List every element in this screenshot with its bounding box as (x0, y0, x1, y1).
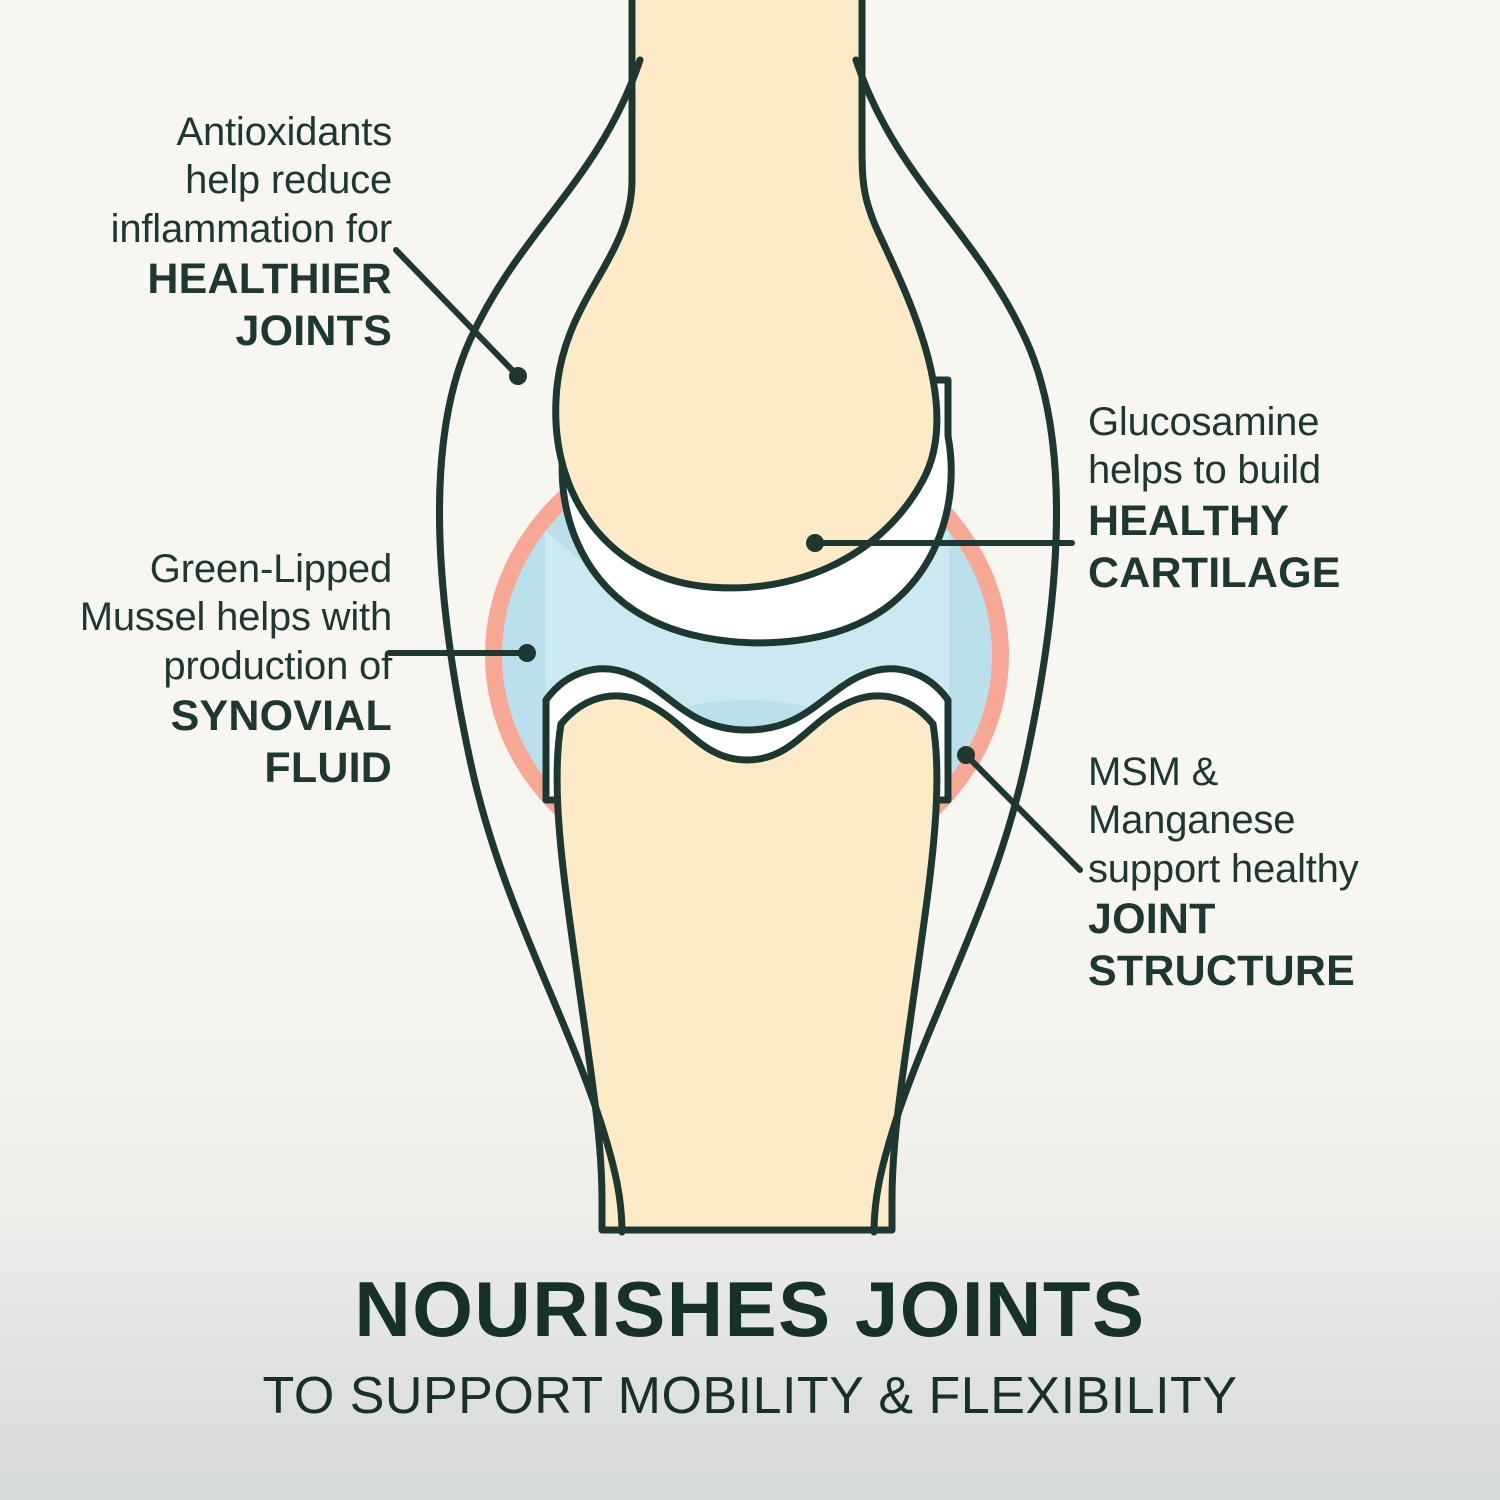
tibia-bone (557, 696, 937, 1230)
femur-bone (556, 0, 937, 588)
callout-msm-strong-line-1: JOINT (1088, 893, 1488, 945)
callout-mussel-lead-line-1: Green-Lipped (10, 545, 392, 593)
callout-mussel-lead-line-2: Mussel helps with (10, 593, 392, 641)
callout-green-lipped-mussel: Green-Lipped Mussel helps with productio… (10, 545, 392, 794)
callout-msm-lead-line-2: Manganese (1088, 796, 1488, 844)
callout-antioxidants-lead-line-3: inflammation for (20, 205, 392, 253)
joint-health-infographic: Antioxidants help reduce inflammation fo… (0, 0, 1500, 1500)
callout-mussel-strong-line-1: SYNOVIAL (10, 690, 392, 742)
leader-dot-msm (957, 746, 975, 764)
callout-msm-strong-line-2: STRUCTURE (1088, 945, 1488, 997)
callout-antioxidants-strong-line-1: HEALTHIER (20, 253, 392, 305)
leader-dot-synovial (518, 644, 536, 662)
callout-antioxidants: Antioxidants help reduce inflammation fo… (20, 108, 392, 357)
banner-title: NOURISHES JOINTS (0, 1270, 1500, 1348)
leader-dot-antioxidants (509, 367, 527, 385)
gold-banner: NOURISHES JOINTS TO SUPPORT MOBILITY & F… (0, 1194, 1500, 1500)
callout-msm-lead-line-3: support healthy (1088, 845, 1488, 893)
callout-antioxidants-strong-line-2: JOINTS (20, 305, 392, 357)
banner-content: NOURISHES JOINTS TO SUPPORT MOBILITY & F… (0, 1270, 1500, 1422)
callout-msm-manganese: MSM & Manganese support healthy JOINT ST… (1088, 748, 1488, 997)
leader-dot-cartilage (806, 534, 824, 552)
leader-line-antioxidants (396, 250, 515, 373)
callout-mussel-strong-line-2: FLUID (10, 742, 392, 794)
callout-glucosamine-strong-line-1: HEALTHY (1088, 495, 1488, 547)
callout-antioxidants-lead-line-1: Antioxidants (20, 108, 392, 156)
callout-msm-lead-line-1: MSM & (1088, 748, 1488, 796)
callout-mussel-lead-line-3: production of (10, 642, 392, 690)
callout-glucosamine-lead-line-2: helps to build (1088, 446, 1488, 494)
callout-glucosamine-lead-line-1: Glucosamine (1088, 398, 1488, 446)
callout-glucosamine-strong-line-2: CARTILAGE (1088, 547, 1488, 599)
banner-subtitle: TO SUPPORT MOBILITY & FLEXIBILITY (0, 1370, 1500, 1422)
callout-antioxidants-lead-line-2: help reduce (20, 156, 392, 204)
callout-glucosamine: Glucosamine helps to build HEALTHY CARTI… (1088, 398, 1488, 599)
